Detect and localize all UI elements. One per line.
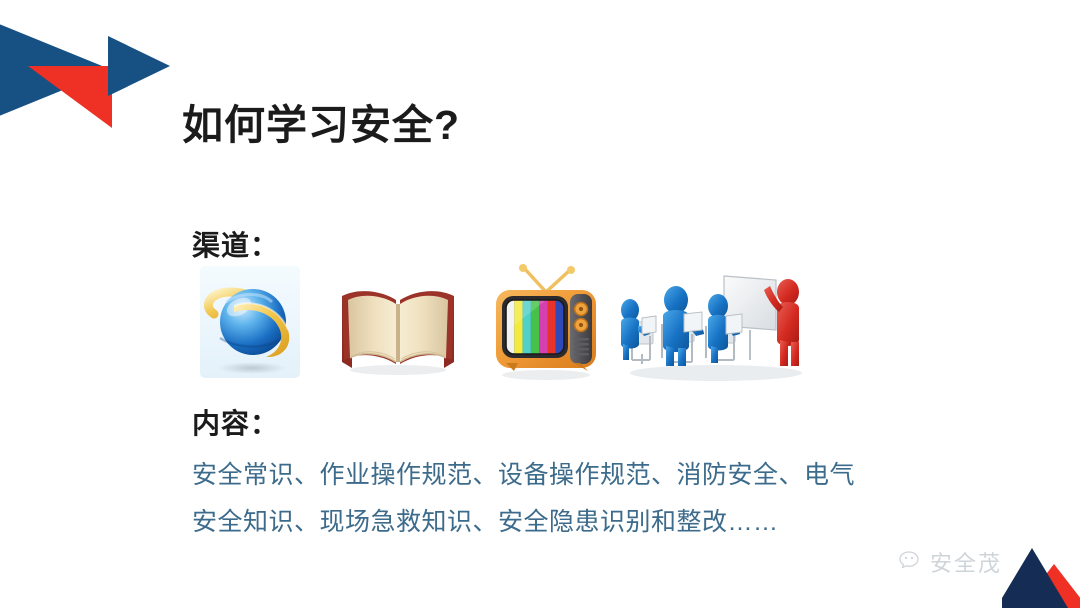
television-icon bbox=[484, 262, 608, 384]
arrow-chevron-decoration bbox=[0, 0, 180, 132]
slide-canvas: 如何学习安全? 渠道： bbox=[0, 0, 1080, 608]
wechat-watermark: 安全茂 bbox=[899, 546, 1002, 578]
large-blue-triangle bbox=[0, 8, 112, 132]
red-triangle bbox=[28, 66, 112, 128]
wechat-speech-bubble-icon bbox=[899, 550, 923, 575]
internet-globe-icon bbox=[196, 262, 308, 384]
mountain-triangles-decoration bbox=[1002, 546, 1080, 608]
red-triangle bbox=[1020, 564, 1080, 608]
page-title: 如何学习安全? bbox=[182, 102, 460, 149]
content-section-label: 内容： bbox=[192, 402, 279, 442]
classroom-training-icon bbox=[616, 264, 816, 386]
content-body: 安全常识、作业操作规范、设备操作规范、消防安全、电气 安全知识、现场急救知识、安… bbox=[192, 452, 932, 546]
navy-triangle bbox=[1002, 548, 1068, 608]
content-line-2: 安全知识、现场急救知识、安全隐患识别和整改…… bbox=[192, 499, 932, 546]
content-line-1: 安全常识、作业操作规范、设备操作规范、消防安全、电气 bbox=[192, 452, 932, 499]
channel-icon-row bbox=[196, 262, 816, 384]
watermark-text: 安全茂 bbox=[930, 546, 1002, 578]
small-blue-triangle bbox=[108, 36, 170, 96]
open-book-icon bbox=[336, 278, 460, 400]
channel-section-label: 渠道： bbox=[192, 224, 279, 264]
